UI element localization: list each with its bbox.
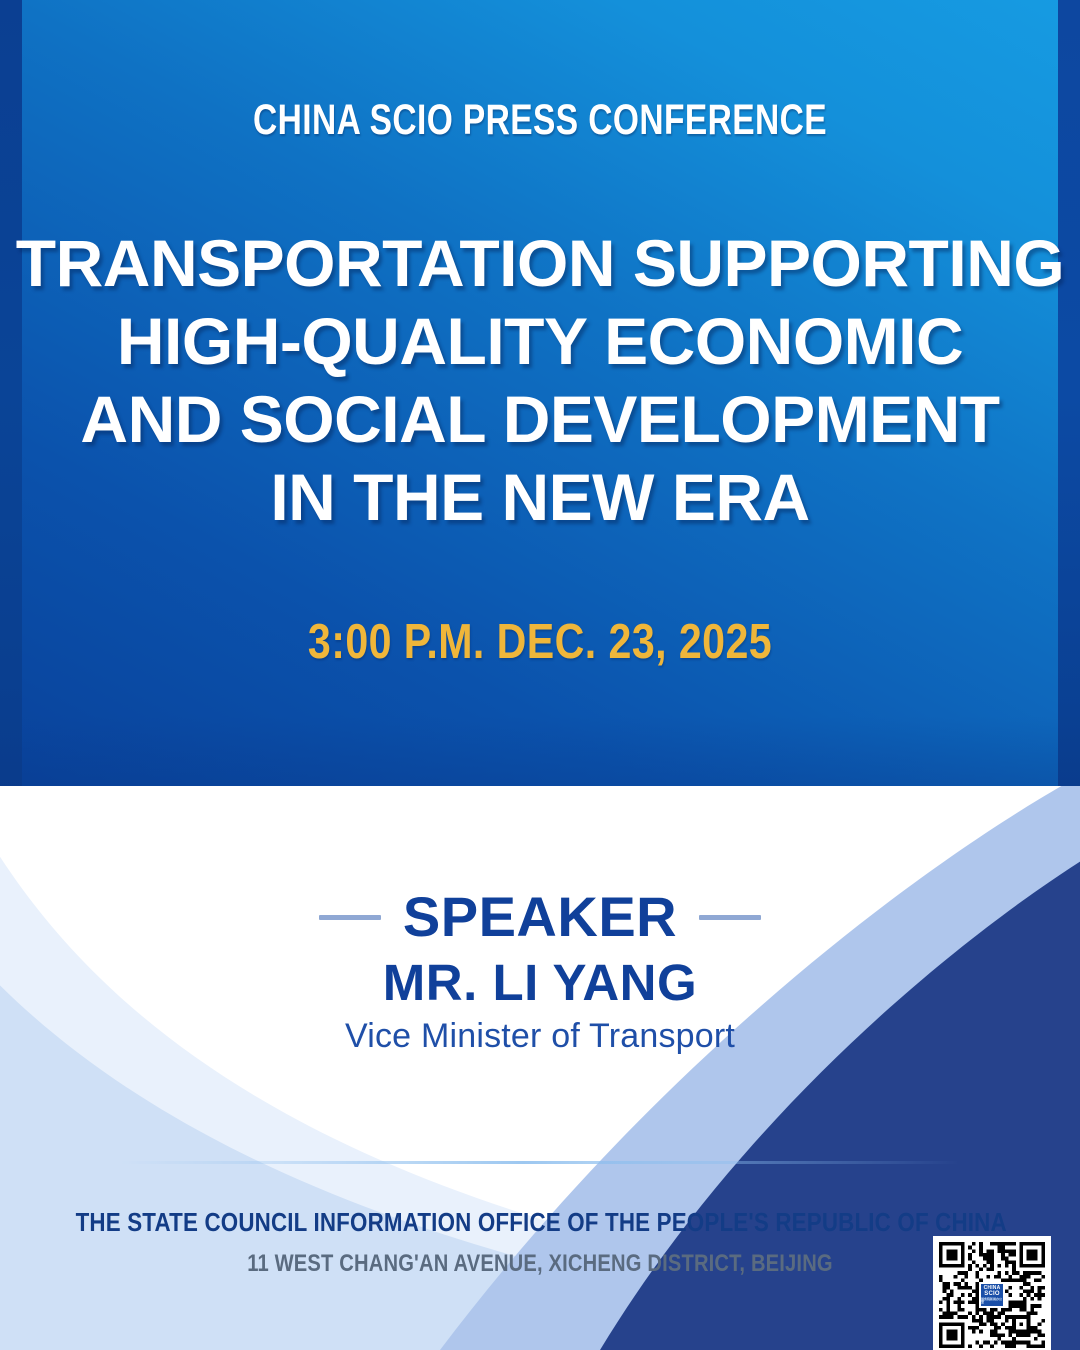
qr-center-logo: CHINA SCIO 国务院新闻办公室 <box>979 1282 1005 1308</box>
headline-line-4: IN THE NEW ERA <box>0 458 1080 536</box>
press-conference-poster: CHINA SCIO PRESS CONFERENCE TRANSPORTATI… <box>0 0 1080 1350</box>
footer-organization: THE STATE COUNCIL INFORMATION OFFICE OF … <box>76 1207 1005 1238</box>
speaker-label: SPEAKER <box>403 888 677 946</box>
headline-line-1: TRANSPORTATION SUPPORTING <box>0 224 1080 302</box>
page-title: TRANSPORTATION SUPPORTING HIGH-QUALITY E… <box>0 224 1080 536</box>
speaker-name: MR. LI YANG <box>0 954 1080 1012</box>
divider-dash-right-icon <box>699 915 761 920</box>
kicker-text: CHINA SCIO PRESS CONFERENCE <box>119 96 961 145</box>
speaker-section: SPEAKER MR. LI YANG Vice Minister of Tra… <box>0 886 1080 1058</box>
event-datetime: 3:00 P.M. DEC. 23, 2025 <box>86 614 993 670</box>
qr-logo-line-3: 国务院新闻办公室 <box>981 1298 1003 1304</box>
footer-address: 11 WEST CHANG'AN AVENUE, XICHENG DISTRIC… <box>86 1250 993 1278</box>
qr-code-icon[interactable]: CHINA SCIO 国务院新闻办公室 <box>933 1236 1051 1350</box>
footer-divider <box>120 1161 960 1164</box>
hero-bottom-shading <box>0 716 1080 786</box>
divider-dash-left-icon <box>319 915 381 920</box>
headline-line-3: AND SOCIAL DEVELOPMENT <box>0 380 1080 458</box>
speaker-heading-row: SPEAKER <box>0 886 1080 948</box>
headline-line-2: HIGH-QUALITY ECONOMIC <box>0 302 1080 380</box>
speaker-title: Vice Minister of Transport <box>0 1014 1080 1058</box>
